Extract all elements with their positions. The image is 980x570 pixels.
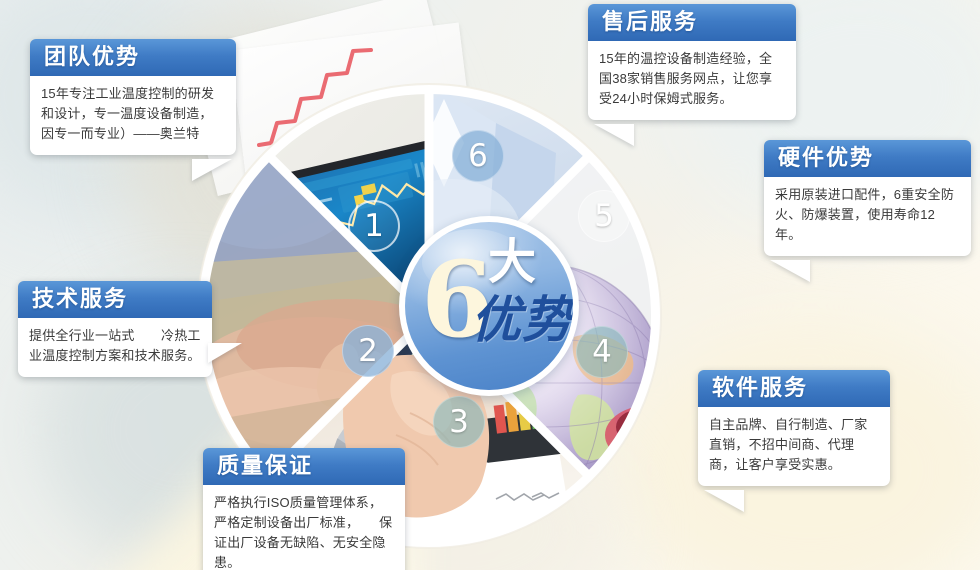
- callout-hardware-body: 采用原装进口配件，6重安全防火、防爆装置，使用寿命12年。: [764, 177, 971, 256]
- callout-after-sales-body: 15年的温控设备制造经验，全国38家销售服务网点，让您享受24小时保姆式服务。: [588, 41, 796, 120]
- callout-quality[interactable]: 质量保证 严格执行ISO质量管理体系，严格定制设备出厂标准， 保证出厂设备无缺陷…: [203, 448, 405, 570]
- callout-team-title: 团队优势: [30, 39, 236, 76]
- callout-tech-title: 技术服务: [18, 281, 212, 318]
- callout-pointer-tail: [594, 124, 634, 146]
- center-logo-badge: 6 大 优势: [399, 216, 579, 396]
- segment-number-6[interactable]: 6: [452, 130, 504, 182]
- callout-hardware-title: 硬件优势: [764, 140, 971, 177]
- callout-pointer-tail: [192, 159, 232, 181]
- logo-script-youshi: 优势: [471, 294, 573, 346]
- callout-team-body: 15年专注工业温度控制的研发和设计，专一温度设备制造，因专一而专业）——奥兰特: [30, 76, 236, 155]
- infographic-poster: 1 2 3 4 5 6 6 大 优势 团队优势 15年专注工业温度控制的研发和设…: [0, 0, 980, 570]
- callout-team[interactable]: 团队优势 15年专注工业温度控制的研发和设计，专一温度设备制造，因专一而专业）—…: [30, 39, 236, 155]
- callout-after-sales-title: 售后服务: [588, 4, 796, 41]
- logo-char-da: 大: [488, 239, 536, 287]
- callout-tech-body: 提供全行业一站式 冷热工业温度控制方案和技术服务。: [18, 318, 212, 377]
- segment-number-3[interactable]: 3: [433, 396, 485, 448]
- callout-hardware[interactable]: 硬件优势 采用原装进口配件，6重安全防火、防爆装置，使用寿命12年。: [764, 140, 971, 256]
- segment-number-2[interactable]: 2: [342, 325, 394, 377]
- segment-number-4[interactable]: 4: [576, 326, 628, 378]
- callout-software[interactable]: 软件服务 自主品牌、自行制造、厂家直销，不招中间商、代理商，让客户享受实惠。: [698, 370, 890, 486]
- callout-tech[interactable]: 技术服务 提供全行业一站式 冷热工业温度控制方案和技术服务。: [18, 281, 212, 377]
- callout-pointer-tail: [704, 490, 744, 512]
- callout-pointer-tail: [208, 343, 242, 363]
- segment-number-5[interactable]: 5: [578, 190, 630, 242]
- callout-after-sales[interactable]: 售后服务 15年的温控设备制造经验，全国38家销售服务网点，让您享受24小时保姆…: [588, 4, 796, 120]
- callout-quality-title: 质量保证: [203, 448, 405, 485]
- callout-quality-body: 严格执行ISO质量管理体系，严格定制设备出厂标准， 保证出厂设备无缺陷、无安全隐…: [203, 485, 405, 570]
- callout-pointer-tail: [770, 260, 810, 282]
- callout-software-body: 自主品牌、自行制造、厂家直销，不招中间商、代理商，让客户享受实惠。: [698, 407, 890, 486]
- segment-number-1[interactable]: 1: [348, 200, 400, 252]
- callout-software-title: 软件服务: [698, 370, 890, 407]
